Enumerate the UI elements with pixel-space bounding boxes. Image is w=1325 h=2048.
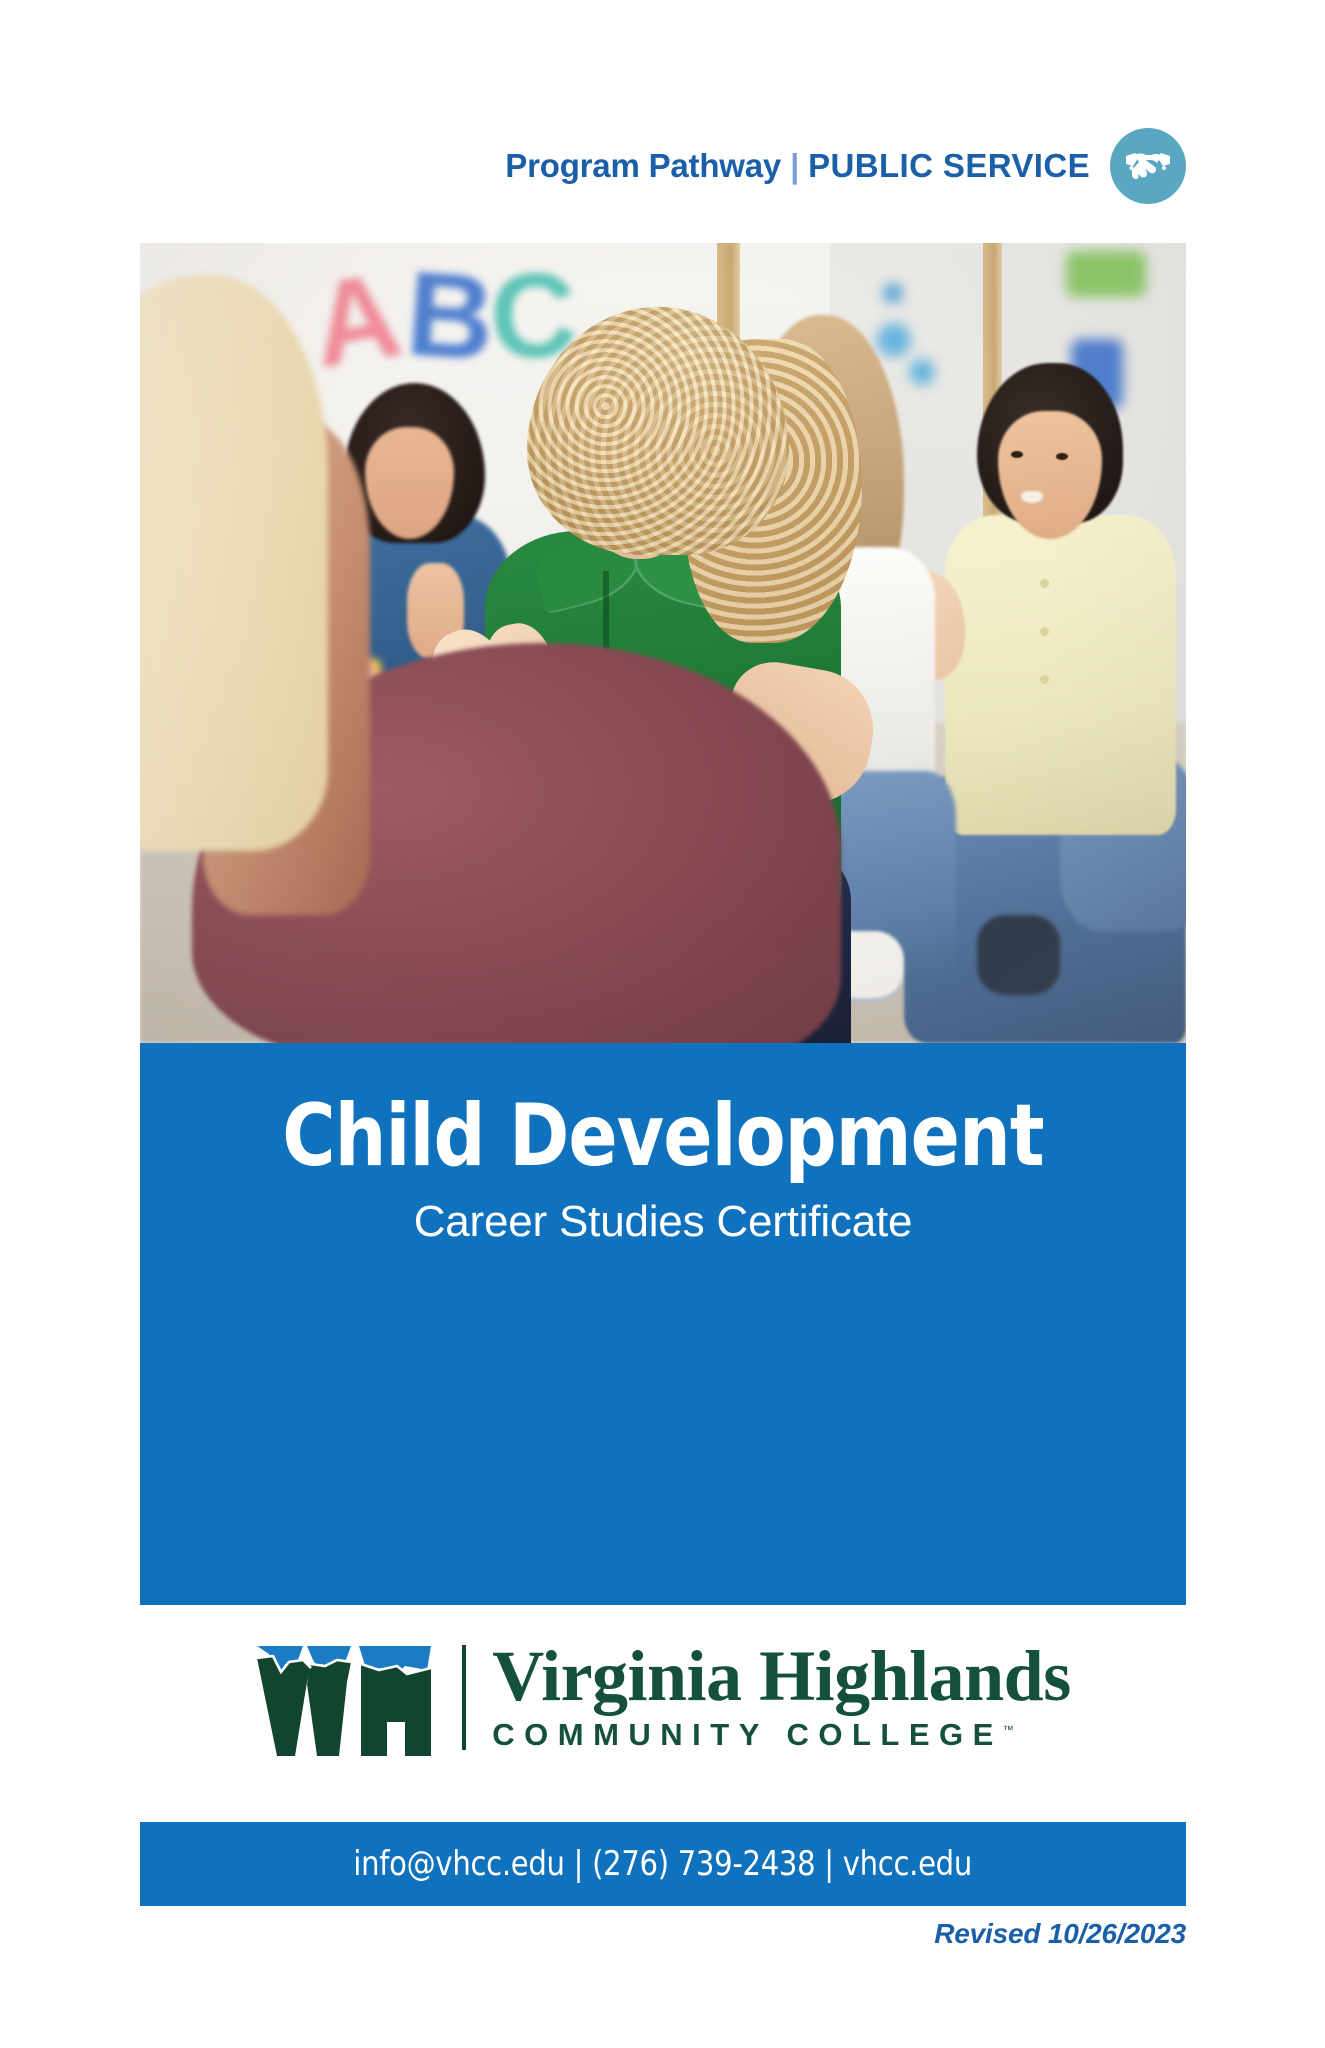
pathway-heading: Program Pathway | PUBLIC SERVICE xyxy=(505,147,1090,185)
contact-line[interactable]: info@vhcc.edu | (276) 739-2438 | vhcc.ed… xyxy=(354,1844,973,1884)
logo-wordmark: Virginia Highlands COMMUNITY COLLEGE™ xyxy=(492,1642,1071,1753)
vh-monogram-icon xyxy=(255,1638,440,1758)
contact-bar: info@vhcc.edu | (276) 739-2438 | vhcc.ed… xyxy=(140,1822,1186,1906)
logo-divider xyxy=(462,1645,466,1750)
hero-photo: A B C xyxy=(140,243,1186,1043)
trademark-symbol: ™ xyxy=(1003,1725,1014,1737)
page-title: Child Development xyxy=(171,1093,1154,1179)
program-title-block: Child Development Career Studies Certifi… xyxy=(140,1043,1186,1605)
page-header: Program Pathway | PUBLIC SERVICE xyxy=(140,120,1186,212)
institution-subtitle-text: COMMUNITY COLLEGE xyxy=(492,1717,1003,1752)
institution-name: Virginia Highlands xyxy=(492,1642,1071,1711)
revision-date: Revised 10/26/2023 xyxy=(934,1918,1186,1950)
pathway-label: Program Pathway xyxy=(505,147,781,185)
career-cluster-label: PUBLIC SERVICE xyxy=(808,147,1090,185)
brochure-page: Program Pathway | PUBLIC SERVICE A B xyxy=(0,0,1325,2048)
header-separator: | xyxy=(781,147,808,185)
credential-subtitle: Career Studies Certificate xyxy=(140,1197,1186,1247)
institution-subtitle: COMMUNITY COLLEGE™ xyxy=(492,1717,1071,1753)
handshake-icon xyxy=(1110,128,1186,204)
college-logo: Virginia Highlands COMMUNITY COLLEGE™ xyxy=(140,1630,1186,1765)
